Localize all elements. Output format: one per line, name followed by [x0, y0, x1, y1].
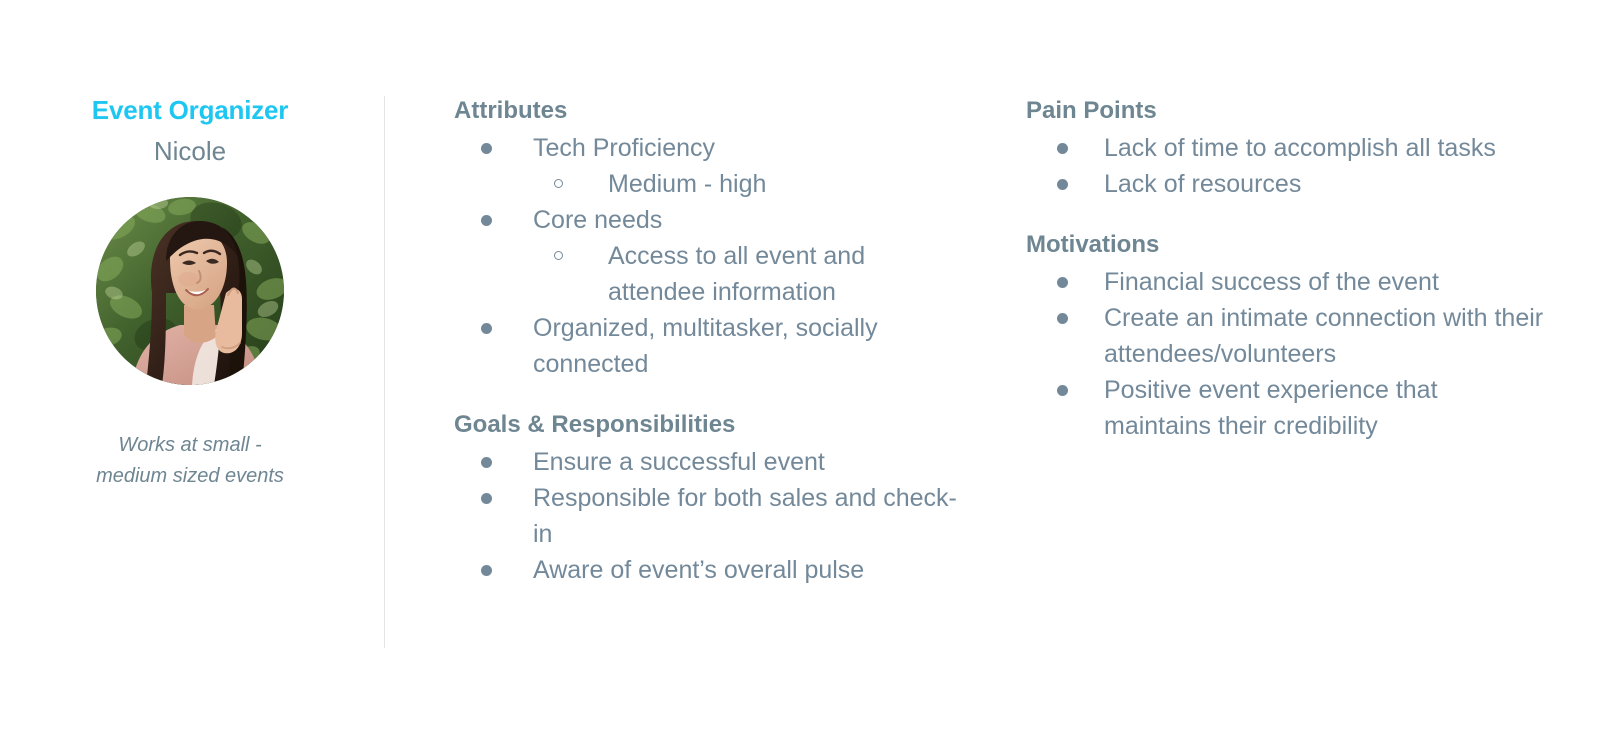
list-item: Responsible for both sales and check-in: [454, 480, 964, 552]
identity-column: Event Organizer Nicole: [40, 96, 340, 492]
avatar-wrap: [96, 197, 284, 385]
list-item-text: Responsible for both sales and check-in: [533, 484, 957, 548]
bullet-dot-icon: [481, 215, 492, 226]
bullet-dot-icon: [481, 143, 492, 154]
goals-list: Ensure a successful event Responsible fo…: [454, 444, 964, 588]
list-item: Aware of event’s overall pulse: [454, 552, 964, 588]
list-item: Financial success of the event: [1026, 264, 1546, 300]
list-item-text: Lack of time to accomplish all tasks: [1104, 134, 1496, 162]
section-pain-points: Pain Points Lack of time to accomplish a…: [1026, 96, 1546, 202]
section-title-goals: Goals & Responsibilities: [454, 410, 964, 440]
list-item-text: Aware of event’s overall pulse: [533, 556, 864, 584]
list-item: Lack of time to accomplish all tasks: [1026, 130, 1546, 166]
sub-list: Access to all event and attendee informa…: [533, 238, 964, 310]
identity-caption: Works at small - medium sized events: [60, 430, 320, 492]
section-motivations: Motivations Financial success of the eve…: [1026, 230, 1546, 444]
list-item: Organized, multitasker, socially connect…: [454, 310, 964, 382]
bullet-dot-icon: [1057, 179, 1068, 190]
list-item-text: Positive event experience that maintains…: [1104, 376, 1438, 440]
pain-points-list: Lack of time to accomplish all tasks Lac…: [1026, 130, 1546, 202]
bullet-dot-icon: [1057, 143, 1068, 154]
list-item: Ensure a successful event: [454, 444, 964, 480]
bullet-dot-icon: [1057, 277, 1068, 288]
list-item: Tech Proficiency Medium - high: [454, 130, 964, 202]
list-item-text: Ensure a successful event: [533, 448, 825, 476]
identity-caption-line-2: medium sized events: [60, 461, 320, 492]
list-item: Core needs Access to all event and atten…: [454, 202, 964, 310]
page-title: Event Organizer: [40, 96, 340, 125]
persona-card: Event Organizer Nicole: [0, 0, 1600, 740]
identity-caption-line-1: Works at small -: [60, 430, 320, 461]
bullet-dot-icon: [1057, 385, 1068, 396]
section-title-attributes: Attributes: [454, 96, 964, 126]
list-item-text: Core needs: [533, 206, 662, 234]
list-item-text: Tech Proficiency: [533, 134, 715, 162]
sub-list-item: Access to all event and attendee informa…: [531, 238, 964, 310]
column-divider: [384, 96, 385, 648]
bullet-dot-icon: [481, 493, 492, 504]
list-item-text: Create an intimate connection with their…: [1104, 304, 1543, 368]
bullet-dot-icon: [481, 323, 492, 334]
bullet-dot-icon: [481, 457, 492, 468]
attributes-column: Attributes Tech Proficiency Medium - hig…: [454, 96, 964, 588]
bullet-ring-icon: [554, 179, 563, 188]
bullet-dot-icon: [481, 565, 492, 576]
list-item-text: Lack of resources: [1104, 170, 1301, 198]
list-item: Lack of resources: [1026, 166, 1546, 202]
sub-list-item-text: Access to all event and attendee informa…: [608, 242, 865, 306]
avatar: [96, 197, 284, 385]
sub-list: Medium - high: [533, 166, 964, 202]
attributes-list: Tech Proficiency Medium - high Core need…: [454, 130, 964, 382]
persona-name: Nicole: [40, 135, 340, 169]
pain-points-column: Pain Points Lack of time to accomplish a…: [1026, 96, 1546, 444]
list-item: Create an intimate connection with their…: [1026, 300, 1546, 372]
section-title-pain-points: Pain Points: [1026, 96, 1546, 126]
list-item: Positive event experience that maintains…: [1026, 372, 1546, 444]
list-item-text: Organized, multitasker, socially connect…: [533, 314, 878, 378]
list-item-text: Financial success of the event: [1104, 268, 1439, 296]
sub-list-item-text: Medium - high: [608, 170, 766, 198]
section-goals: Goals & Responsibilities Ensure a succes…: [454, 410, 964, 588]
section-title-motivations: Motivations: [1026, 230, 1546, 260]
motivations-list: Financial success of the event Create an…: [1026, 264, 1546, 444]
bullet-dot-icon: [1057, 313, 1068, 324]
bullet-ring-icon: [554, 251, 563, 260]
portrait-photo: [96, 197, 284, 385]
sub-list-item: Medium - high: [531, 166, 964, 202]
section-attributes: Attributes Tech Proficiency Medium - hig…: [454, 96, 964, 382]
